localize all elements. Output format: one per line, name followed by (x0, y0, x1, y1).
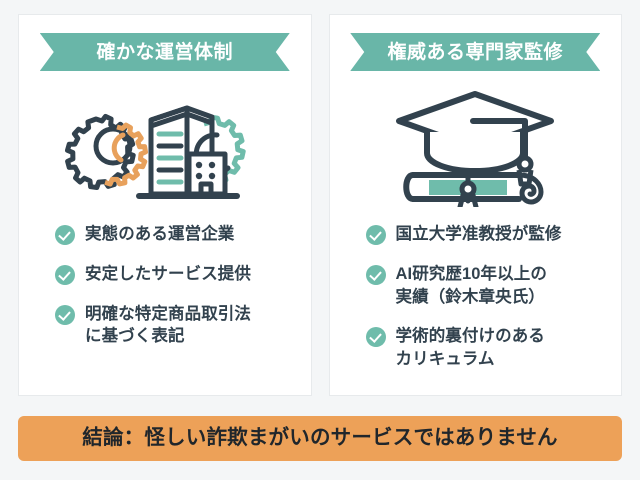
list-item: 国立大学准教授が監修 (366, 223, 622, 246)
check-circle-icon (55, 265, 75, 285)
feature-list-expert: 国立大学准教授が監修 AI研究歴10年以上の 実績（鈴木章央氏） 学術的裏付けの… (330, 223, 622, 371)
infographic-stage: 確かな運営体制 (0, 0, 640, 480)
list-item: 学術的裏付けのある カリキュラム (366, 325, 622, 371)
feature-card-operations: 確かな運営体制 (18, 14, 312, 396)
list-item: AI研究歴10年以上の 実績（鈴木章央氏） (366, 263, 622, 309)
check-circle-icon (366, 225, 386, 245)
office-buildings-gears-icon (60, 85, 270, 207)
graduation-cap-diploma-icon (370, 85, 580, 207)
list-item-label: 安定したサービス提供 (85, 263, 251, 286)
list-item: 安定したサービス提供 (55, 263, 311, 286)
card-ribbon-title-expert: 権威ある専門家監修 (350, 33, 600, 71)
list-item: 明確な特定商品取引法 に基づく表記 (55, 303, 311, 349)
feature-card-expert-supervision: 権威ある専門家監修 (329, 14, 623, 396)
list-item-label: 学術的裏付けのある カリキュラム (396, 325, 545, 371)
list-item-label: 明確な特定商品取引法 に基づく表記 (85, 303, 251, 349)
check-circle-icon (55, 225, 75, 245)
card-ribbon-title-operations: 確かな運営体制 (40, 33, 290, 71)
check-circle-icon (55, 305, 75, 325)
check-circle-icon (366, 327, 386, 347)
list-item: 実態のある運営企業 (55, 223, 311, 246)
feature-list-operations: 実態のある運営企業 安定したサービス提供 明確な特定商品取引法 に基づく表記 (19, 223, 311, 348)
list-item-label: AI研究歴10年以上の 実績（鈴木章央氏） (396, 263, 547, 309)
check-circle-icon (366, 265, 386, 285)
list-item-label: 実態のある運営企業 (85, 223, 234, 246)
conclusion-text: 結論：怪しい詐欺まがいのサービスではありません (82, 428, 557, 449)
conclusion-banner: 結論：怪しい詐欺まがいのサービスではありません (18, 416, 622, 461)
feature-cards-row: 確かな運営体制 (18, 14, 622, 396)
list-item-label: 国立大学准教授が監修 (396, 223, 562, 246)
